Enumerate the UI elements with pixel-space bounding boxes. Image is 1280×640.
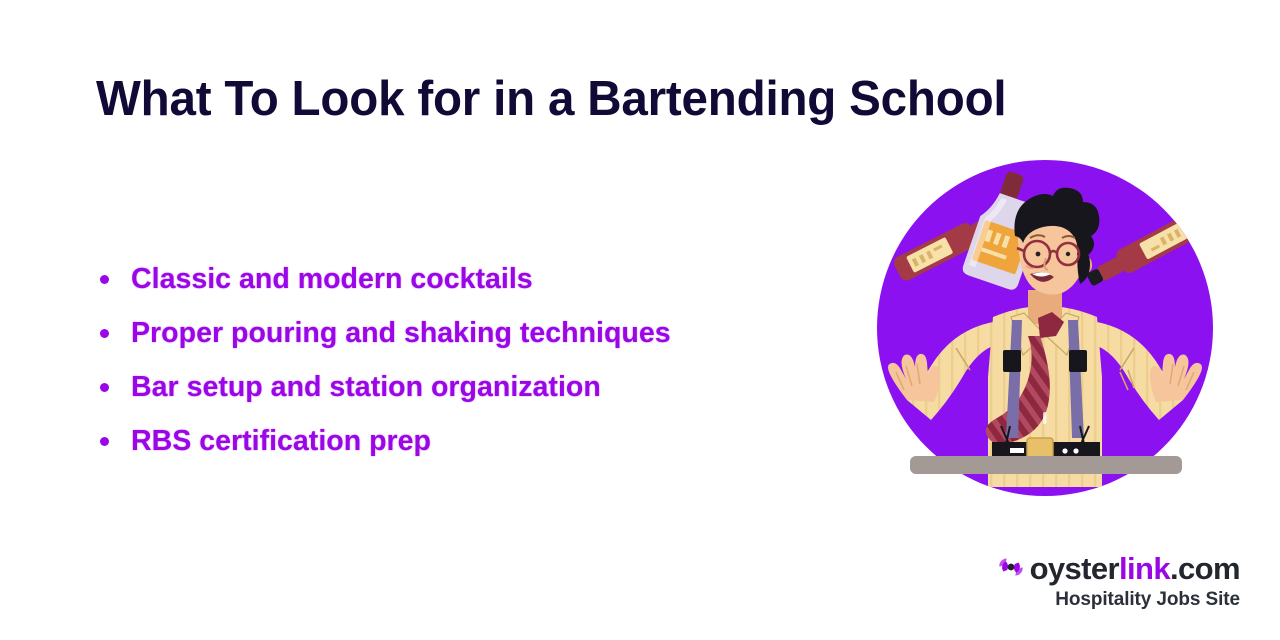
list-item-label: RBS certification prep — [131, 424, 431, 458]
list-item-label: Proper pouring and shaking techniques — [131, 316, 671, 350]
logo-wordmark-row[interactable]: oysterlink.com — [999, 552, 1240, 586]
logo-word-domain: .com — [1170, 551, 1240, 586]
page-title: What To Look for in a Bartending School — [96, 64, 1163, 134]
bullet-dot-icon — [100, 329, 109, 338]
list-item: RBS certification prep — [96, 414, 876, 468]
logo-tagline: Hospitality Jobs Site — [999, 588, 1240, 612]
logo-word-link: link — [1119, 551, 1170, 586]
list-item-label: Classic and modern cocktails — [131, 262, 533, 296]
list-item: Bar setup and station organization — [96, 360, 876, 414]
bullet-dot-icon — [100, 383, 109, 392]
oysterlink-logo[interactable]: oysterlink.com Hospitality Jobs Site — [999, 552, 1240, 612]
bullet-dot-icon — [100, 437, 109, 446]
bar-counter-overhang — [910, 456, 1182, 474]
list-item: Classic and modern cocktails — [96, 252, 876, 306]
list-item: Proper pouring and shaking techniques — [96, 306, 876, 360]
feature-bullet-list: Classic and modern cocktails Proper pour… — [96, 252, 876, 468]
bullet-dot-icon — [100, 275, 109, 284]
list-item-label: Bar setup and station organization — [131, 370, 601, 404]
bartender-juggling-illustration — [860, 150, 1230, 510]
logo-wordmark: oysterlink.com — [1030, 552, 1240, 586]
logo-word-oyster: oyster — [1030, 551, 1119, 586]
oyster-shell-icon — [999, 556, 1023, 583]
